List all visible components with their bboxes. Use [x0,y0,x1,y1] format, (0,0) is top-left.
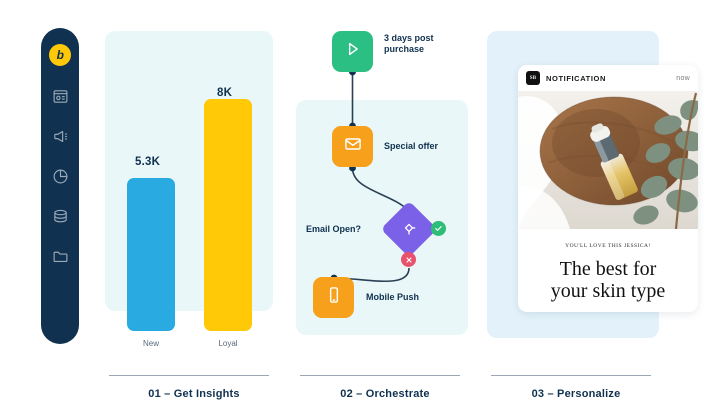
sidebar-item-dashboard[interactable] [50,86,70,106]
notification-headline-line1: The best for [528,258,688,280]
caption-text: 01 – Get Insights [105,388,283,400]
megaphone-icon [52,128,69,145]
folder-icon [52,248,69,265]
database-icon [52,208,69,225]
flow-label-push: Mobile Push [366,292,419,303]
pie-chart-icon [52,168,69,185]
notification-card[interactable]: SB NOTIFICATION now [518,65,698,312]
caption-get-insights: 01 – Get Insights [105,375,283,400]
notification-timestamp: now [676,75,690,82]
caption-orchestrate: 02 – Orchestrate [296,375,474,400]
check-icon [434,220,443,238]
bar-label-new: New [127,339,175,348]
envelope-icon [343,134,363,159]
app-sidebar: b [41,28,79,344]
flow-label-decision: Email Open? [306,224,361,235]
dashboard-icon [52,88,69,105]
badge-no[interactable] [401,252,416,267]
sidebar-item-campaigns[interactable] [50,126,70,146]
flow-label-trigger: 3 days post purchase [384,33,444,56]
notification-headline-line2: your skin type [528,280,688,302]
flow-node-trigger[interactable] [332,31,373,72]
bar-new [127,178,175,331]
flow-label-email: Special offer [384,141,438,152]
flow-node-email[interactable] [332,126,373,167]
caption-rule [491,375,651,376]
close-icon [405,251,413,269]
brand-logo[interactable]: b [49,44,71,66]
badge-yes[interactable] [431,221,446,236]
flow-node-push[interactable] [313,277,354,318]
decision-icon [389,209,429,249]
brand-logo-letter: b [57,49,64,61]
sidebar-item-data[interactable] [50,206,70,226]
product-photo [518,91,698,229]
serum-photo-illustration [518,91,698,229]
caption-personalize: 03 – Personalize [487,375,665,400]
sidebar-item-analytics[interactable] [50,166,70,186]
play-icon [343,39,363,64]
bar-chart: 5.3K 8K New Loyal [105,31,277,351]
bar-value-loyal: 8K [217,87,232,99]
notification-eyebrow: YOU'LL LOVE THIS JESSICA! [528,243,688,249]
bar-label-loyal: Loyal [204,339,252,348]
notification-title: NOTIFICATION [546,74,670,83]
notification-brand-icon: SB [526,71,540,85]
caption-rule [300,375,460,376]
bar-loyal [204,99,252,331]
infographic-root: b [0,0,728,414]
sidebar-item-library[interactable] [50,246,70,266]
caption-text: 03 – Personalize [487,388,665,400]
caption-rule [109,375,269,376]
notification-header: SB NOTIFICATION now [518,65,698,91]
notification-body: YOU'LL LOVE THIS JESSICA! The best for y… [518,229,698,303]
caption-text: 02 – Orchestrate [296,388,474,400]
notification-brand-mark: SB [530,76,537,81]
mobile-icon [324,285,344,310]
journey-flow: 3 days post purchase Special offer Email… [290,28,480,338]
bar-value-new: 5.3K [135,156,160,168]
